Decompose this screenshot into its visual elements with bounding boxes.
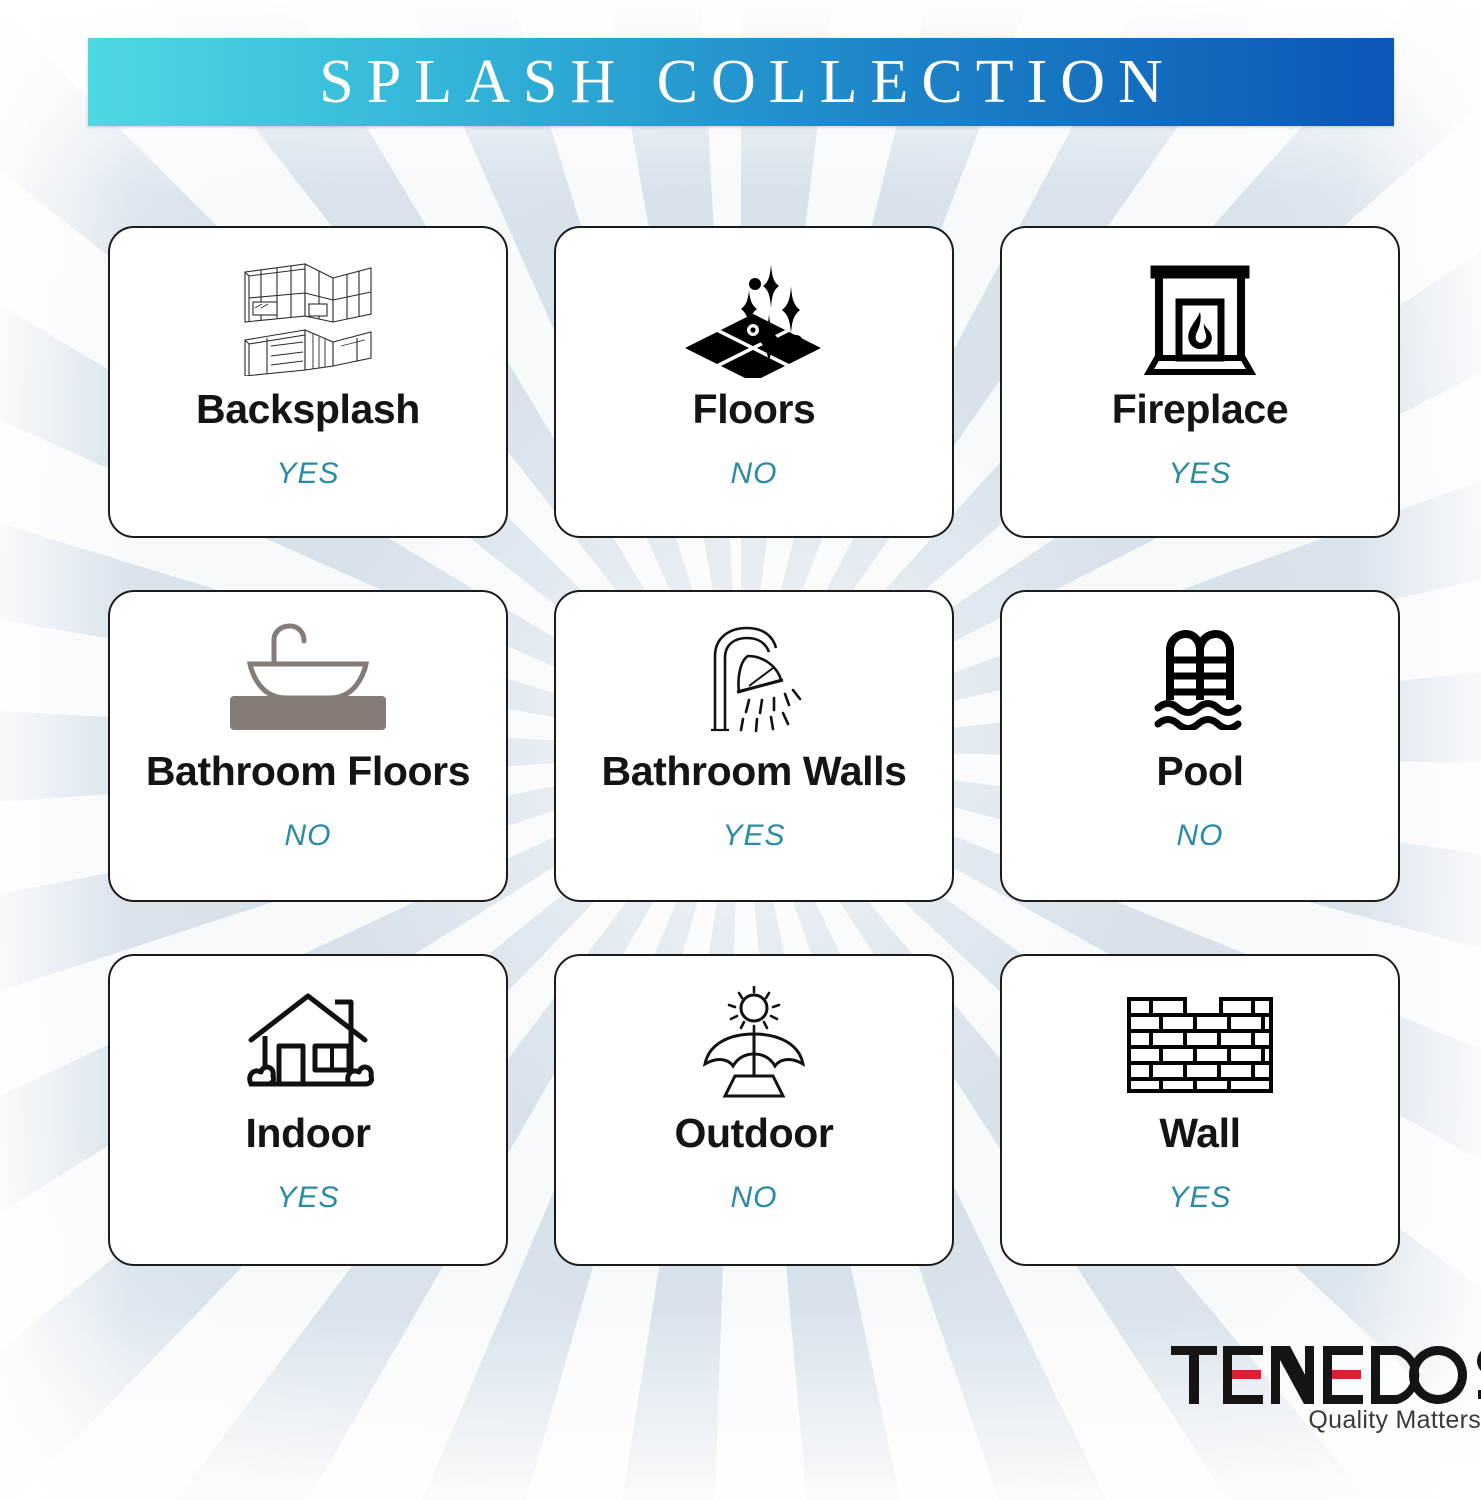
feature-card-outdoor[interactable]: Outdoor NO [554, 954, 954, 1266]
card-value: YES [1168, 1181, 1231, 1215]
card-value: YES [276, 457, 339, 491]
page-title: SPLASH COLLECTION [306, 51, 1176, 113]
bathroom-sink-icon [110, 616, 506, 740]
card-title: Bathroom Floors [146, 750, 470, 793]
feature-card-bathroom-walls[interactable]: Bathroom Walls YES [554, 590, 954, 902]
house-icon [110, 980, 506, 1106]
sun-umbrella-icon [556, 980, 952, 1106]
card-title: Wall [1159, 1112, 1240, 1155]
card-value: NO [285, 819, 332, 853]
card-title: Backsplash [196, 388, 420, 431]
logo-tagline: Quality Matters [1308, 1406, 1481, 1435]
card-title: Indoor [245, 1112, 370, 1155]
card-title: Fireplace [1112, 388, 1288, 431]
feature-card-floors[interactable]: Floors NO [554, 226, 954, 538]
card-value: YES [722, 819, 785, 853]
card-value: NO [731, 1181, 778, 1215]
card-title: Floors [693, 388, 816, 431]
feature-card-fireplace[interactable]: Fireplace YES [1000, 226, 1400, 538]
header-banner: SPLASH COLLECTION [88, 38, 1394, 126]
pool-ladder-icon [1002, 616, 1398, 740]
feature-card-bathroom-floors[interactable]: Bathroom Floors NO [108, 590, 508, 902]
feature-card-indoor[interactable]: Indoor YES [108, 954, 508, 1266]
card-value: YES [276, 1181, 339, 1215]
feature-card-backsplash[interactable]: Backsplash YES [108, 226, 508, 538]
fireplace-icon [1002, 252, 1398, 382]
feature-card-grid: Backsplash YES [108, 226, 1400, 1266]
feature-card-pool[interactable]: Pool NO [1000, 590, 1400, 902]
tenedos-wordmark-icon [1171, 1344, 1481, 1406]
floor-tiles-sparkle-icon [556, 252, 952, 382]
poster-canvas: SPLASH COLLECTION [0, 0, 1481, 1500]
card-value: NO [1177, 819, 1224, 853]
brand-logo: Quality Matters [1171, 1344, 1481, 1452]
card-title: Outdoor [675, 1112, 834, 1155]
card-value: NO [731, 457, 778, 491]
card-value: YES [1168, 457, 1231, 491]
card-title: Pool [1156, 750, 1243, 793]
brick-wall-icon [1002, 980, 1398, 1106]
shower-icon [556, 616, 952, 740]
card-title: Bathroom Walls [602, 750, 907, 793]
feature-card-wall[interactable]: Wall YES [1000, 954, 1400, 1266]
kitchen-cabinets-icon [110, 252, 506, 382]
